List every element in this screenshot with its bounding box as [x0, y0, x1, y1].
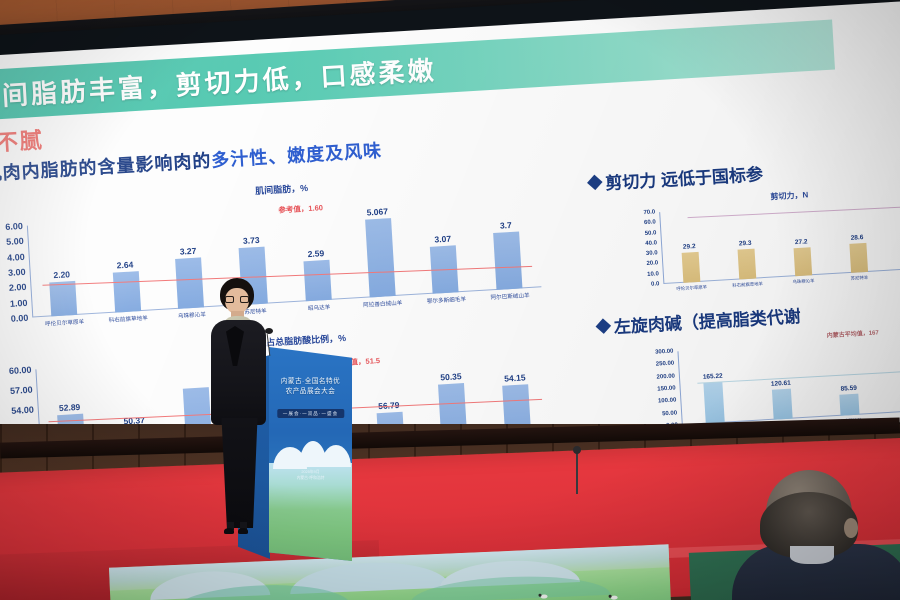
heading-carnitine: 左旋肉碱（提高脂类代谢: [597, 302, 801, 339]
podium-title-line2: 农产品展会大会: [286, 388, 336, 395]
y-tick-label: 60.0: [644, 220, 656, 227]
chart-carnitine: 0.0050.00100.00150.00200.00250.00300.001…: [677, 335, 900, 425]
bar-value-label: 3.73: [243, 235, 260, 246]
chart-bar: 5.067阿拉善白绒山羊: [365, 218, 396, 297]
y-tick-label: 0.0: [651, 281, 660, 287]
chart-bar: 165.22呼伦贝尔草原羊: [704, 382, 725, 424]
bar-value-label: 3.07: [434, 233, 451, 244]
bar-value-label: 54.15: [504, 372, 526, 383]
y-tick-label: 54.00: [11, 405, 34, 416]
subtitle-red: 肥而不腻: [0, 123, 45, 161]
chart-bar: 29.2呼伦贝尔草原羊: [681, 252, 700, 283]
reference-line-label: 参考值，1.60: [278, 202, 323, 216]
bar-value-label: 2.59: [307, 248, 324, 259]
y-tick-label: 300.00: [655, 349, 674, 356]
bar-value-label: 29.2: [683, 243, 696, 251]
podium-date-line1: 2025年9月: [301, 470, 319, 474]
chart-imf-y-axis: [27, 226, 33, 318]
diamond-bullet-icon: [587, 175, 603, 191]
y-tick-label: 150.00: [657, 385, 676, 392]
podium-front-panel: 内蒙古·全国名特优 农产品展会大会 一展会·一双品·一盛会 2025年9月 内蒙…: [269, 347, 352, 561]
audience-shirt-collar: [790, 546, 834, 564]
chart-shear-plot: 0.010.020.030.040.050.060.070.029.2呼伦贝尔草…: [659, 196, 900, 284]
chart-intramuscular-fat: 肌间脂肪，% 0.001.002.003.004.005.006.002.20呼…: [27, 195, 542, 317]
bar-category-label: 科右前旗草地羊: [108, 314, 148, 324]
bar-value-label: 5.067: [366, 207, 388, 218]
y-tick-label: 2.00: [9, 282, 27, 293]
subtitle-blue-highlight: 多汁性、嫩度及风味: [211, 140, 383, 170]
chart-bar: 2.20呼伦贝尔草原羊: [49, 281, 77, 316]
bar-value-label: 28.6: [851, 234, 864, 242]
y-tick-label: 30.0: [646, 250, 658, 257]
bar-value-label: 85.59: [840, 385, 857, 393]
bar-value-label: 3.7: [500, 220, 512, 231]
reference-line: [697, 368, 900, 383]
floor-microphone-stand: [576, 452, 578, 494]
chart-bar: 28.6苏尼特羊: [849, 243, 868, 273]
heading-carnitine-text: 左旋肉碱（提高脂类代谢: [613, 302, 801, 338]
heading-shear-force-text: 剪切力 远低于国标参: [605, 160, 764, 194]
podium-badge: 一展会·一双品·一盛会: [277, 409, 344, 418]
y-tick-label: 57.00: [10, 385, 33, 396]
y-tick-label: 5.00: [6, 236, 24, 247]
chart-shear-force: 剪切力，N 0.010.020.030.040.050.060.070.029.…: [659, 196, 900, 284]
bar-category-label: 鄂尔多斯细毛羊: [427, 295, 467, 305]
chart-bar: 120.61科右前旗草地羊: [772, 389, 793, 420]
y-tick-label: 70.0: [643, 209, 655, 216]
slide-content: 肌间脂肪丰富，剪切力低，口感柔嫩 肥而不腻 肌肉内脂肪的含量影响肉的多汁性、嫩度…: [0, 0, 900, 477]
subtitle-blue-mid: 的含量影响肉的: [78, 151, 212, 179]
podium-date: 2025年9月 内蒙古·呼和浩特: [269, 469, 352, 481]
speaker-skirt: [217, 418, 262, 528]
chart-carn-plot: 0.0050.00100.00150.00200.00250.00300.001…: [677, 335, 900, 425]
y-tick-label: 20.0: [646, 261, 658, 268]
ribbon-title: 肌间脂肪丰富，剪切力低，口感柔嫩: [0, 50, 437, 116]
speaker-glasses-icon: [225, 296, 249, 303]
heading-shear-force: 剪切力 远低于国标参: [589, 160, 764, 195]
speaker-person: [200, 278, 280, 538]
chart-shear-y-axis: [659, 212, 664, 284]
conference-photo-scene: 肌间脂肪丰富，剪切力低，口感柔嫩 肥而不腻 肌肉内脂肪的含量影响肉的多汁性、嫩度…: [0, 0, 900, 600]
subtitle-blue-prefix: 肌肉内脂肪: [0, 159, 79, 185]
y-tick-label: 1.00: [10, 297, 28, 308]
projection-screen: 肌间脂肪丰富，剪切力低，口感柔嫩 肥而不腻 肌肉内脂肪的含量影响肉的多汁性、嫩度…: [0, 0, 900, 485]
y-tick-label: 50.0: [645, 230, 657, 237]
y-tick-label: 4.00: [7, 252, 25, 263]
reference-line-label: 内蒙古平均值，167: [826, 327, 878, 339]
y-tick-label: 10.0: [647, 271, 659, 278]
reference-line: [688, 205, 900, 219]
y-tick-label: 60.00: [9, 365, 32, 376]
bar-value-label: 27.2: [795, 238, 808, 246]
chart-bar: 2.59昭乌达羊: [303, 260, 331, 301]
chart-carn-y-axis: [677, 351, 682, 425]
bar-category-label: 苏尼特羊: [851, 275, 869, 282]
bar-value-label: 29.3: [739, 240, 752, 248]
bar-category-label: 呼伦贝尔草原羊: [45, 317, 85, 327]
chart-bar: 85.59乌珠穆沁羊: [840, 394, 860, 416]
y-tick-label: 250.00: [656, 361, 675, 368]
y-tick-label: 3.00: [8, 267, 26, 278]
audience-ear: [844, 518, 858, 538]
y-tick-label: 100.00: [658, 398, 677, 405]
bar-value-label: 2.20: [53, 269, 70, 280]
chart-bar: 27.2乌珠穆沁羊: [793, 247, 812, 276]
bar-category-label: 科右前旗草地羊: [732, 281, 763, 289]
speaker-shoe-right: [238, 528, 248, 534]
bar-value-label: 3.27: [179, 246, 196, 257]
y-tick-label: 200.00: [656, 373, 675, 380]
bar-value-label: 52.89: [59, 402, 81, 413]
bar-category-label: 乌珠穆沁羊: [792, 278, 814, 285]
chart-bar: 2.64科右前旗草地羊: [112, 271, 140, 313]
bar-value-label: 165.22: [703, 373, 723, 381]
diamond-bullet-icon-2: [596, 318, 612, 334]
podium-title-line1: 内蒙古·全国名特优: [281, 378, 340, 385]
subtitle-blue: 肌肉内脂肪的含量影响肉的多汁性、嫩度及风味: [0, 137, 383, 187]
podium-title: 内蒙古·全国名特优 农产品展会大会: [269, 377, 352, 397]
chart-imf-title: 肌间脂肪，%: [255, 181, 309, 197]
chart-bar: 29.3科右前旗草地羊: [737, 248, 756, 279]
podium-date-line2: 内蒙古·呼和浩特: [297, 476, 325, 480]
y-tick-label: 6.00: [5, 221, 23, 232]
chart-bar: 3.7阿尔巴斯绒山羊: [493, 232, 522, 290]
speaker-shoe-left: [224, 528, 234, 534]
y-tick-label: 50.00: [662, 410, 677, 417]
chart-shear-title: 剪切力，N: [770, 189, 808, 202]
bar-value-label: 2.64: [116, 259, 133, 270]
chart-imf-plot: 0.001.002.003.004.005.006.002.20呼伦贝尔草原羊2…: [27, 195, 542, 317]
slide-ribbon-banner: 肌间脂肪丰富，剪切力低，口感柔嫩: [0, 20, 835, 122]
y-tick-label: 0.00: [11, 313, 29, 324]
bar-value-label: 120.61: [771, 380, 791, 388]
bar-category-label: 阿尔巴斯绒山羊: [490, 291, 530, 301]
bar-category-label: 昭乌达羊: [308, 303, 331, 312]
y-tick-label: 40.0: [645, 240, 657, 247]
bar-category-label: 阿拉善白绒山羊: [363, 299, 403, 309]
bar-value-label: 50.35: [440, 371, 462, 382]
audience-member-foreground: [756, 470, 900, 600]
bar-category-label: 呼伦贝尔草原羊: [676, 284, 707, 292]
